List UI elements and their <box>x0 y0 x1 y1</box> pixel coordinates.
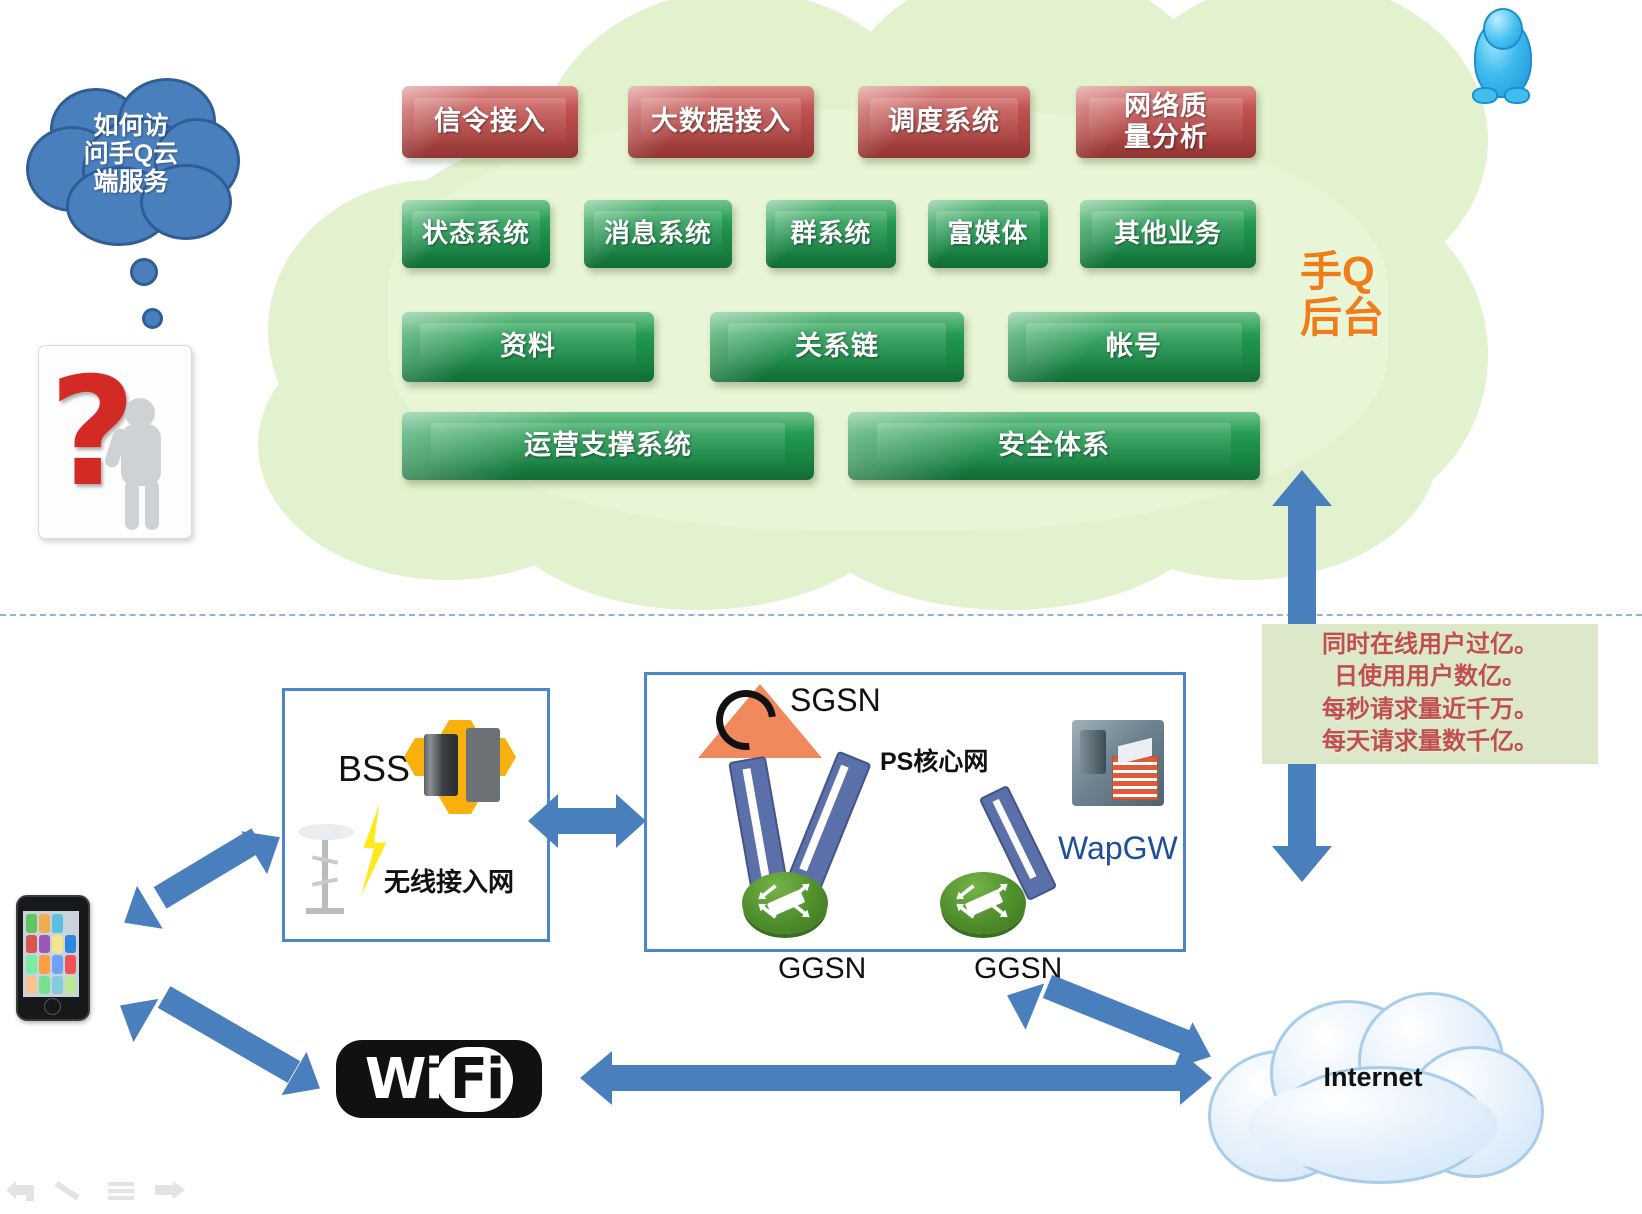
module-box-0-0[interactable]: 信令接入 <box>402 86 578 158</box>
smartphone-icon <box>16 895 90 1021</box>
module-box-label: 安全体系 <box>998 430 1110 461</box>
ran-ps-link-shaft <box>556 808 618 834</box>
undo-arrow-icon[interactable] <box>6 1177 32 1203</box>
module-box-3-1[interactable]: 安全体系 <box>848 412 1260 480</box>
thought-line-3: 端服务 <box>22 168 240 196</box>
stats-panel: 同时在线用户过亿。 日使用用户数亿。 每秒请求量近千万。 每天请求量数千亿。 <box>1262 624 1598 764</box>
pen-icon[interactable] <box>56 1177 82 1203</box>
module-box-3-0[interactable]: 运营支撑系统 <box>402 412 814 480</box>
module-box-label: 大数据接入 <box>651 106 791 137</box>
internet-cloud: Internet <box>1208 992 1538 1182</box>
lines-icon[interactable] <box>106 1177 132 1203</box>
module-box-label: 群系统 <box>790 219 871 249</box>
phone-ran-link <box>130 822 290 922</box>
thought-bubble: 如何访 问手Q云 端服务 <box>22 78 240 248</box>
phone-home-button <box>44 998 61 1015</box>
backend-watermark-line2: 后台 <box>1300 284 1384 345</box>
thought-line-2: 问手Q云 <box>22 140 240 168</box>
wifi-internet-arrow-left <box>580 1051 612 1105</box>
module-box-label: 资料 <box>500 331 556 362</box>
module-box-label: 调度系统 <box>888 106 1000 137</box>
stats-line-3: 每秒请求量近千万。 <box>1262 694 1598 726</box>
section-divider <box>0 614 1642 616</box>
module-box-2-2[interactable]: 帐号 <box>1008 312 1260 382</box>
sgsn-label: SGSN <box>790 682 881 719</box>
module-box-1-2[interactable]: 群系统 <box>766 200 896 268</box>
thought-dot-large <box>130 258 158 286</box>
thought-dot-small <box>142 308 163 329</box>
internet-label: Internet <box>1208 1062 1538 1093</box>
bss-equipment-icon <box>404 732 534 822</box>
module-box-0-2[interactable]: 调度系统 <box>858 86 1030 158</box>
module-box-0-1[interactable]: 大数据接入 <box>628 86 814 158</box>
ggsn-left-label: GGSN <box>778 952 866 986</box>
ggsn-internet-link <box>1000 970 1230 1070</box>
module-box-1-3[interactable]: 富媒体 <box>928 200 1048 268</box>
wifi-logo: Wi Fi <box>336 1040 542 1118</box>
module-box-0-3[interactable]: 网络质量分析 <box>1076 86 1256 158</box>
ggsn-left-icon <box>742 872 828 934</box>
module-box-1-0[interactable]: 状态系统 <box>402 200 550 268</box>
question-mark-card: ? <box>38 345 192 539</box>
ran-ps-arrow-right <box>616 794 646 848</box>
ran-label: 无线接入网 <box>384 862 514 899</box>
vertical-link-arrow-up <box>1272 470 1332 506</box>
module-box-label: 关系链 <box>795 331 879 362</box>
figure-leg-right <box>145 480 159 530</box>
ran-ps-arrow-left <box>528 794 558 848</box>
thought-line-1: 如何访 <box>22 112 240 140</box>
wifi-label-fi: Fi <box>436 1047 513 1112</box>
module-box-label: 状态系统 <box>422 219 530 249</box>
module-box-1-4[interactable]: 其他业务 <box>1080 200 1256 268</box>
wapgw-icon <box>1072 720 1164 806</box>
module-box-label: 其他业务 <box>1114 219 1222 249</box>
stats-line-4: 每天请求量数千亿。 <box>1262 726 1598 758</box>
bss-label: BSS <box>338 748 410 790</box>
ggsn-right-icon <box>940 872 1026 934</box>
module-box-label: 网络质量分析 <box>1124 91 1208 153</box>
module-box-label: 信令接入 <box>434 106 546 137</box>
module-box-label: 富媒体 <box>947 219 1028 249</box>
module-box-label: 运营支撑系统 <box>524 430 692 461</box>
qq-penguin-icon <box>1470 8 1532 104</box>
module-box-2-0[interactable]: 资料 <box>402 312 654 382</box>
thought-bubble-text: 如何访 问手Q云 端服务 <box>22 112 240 196</box>
module-box-label: 帐号 <box>1106 331 1162 362</box>
module-box-2-1[interactable]: 关系链 <box>710 312 964 382</box>
module-box-1-1[interactable]: 消息系统 <box>584 200 732 268</box>
vertical-link-arrow-down <box>1272 846 1332 882</box>
phone-screen <box>23 911 79 997</box>
figure-leg-left <box>125 480 139 530</box>
phone-wifi-link <box>120 980 340 1090</box>
cell-tower-icon <box>292 812 360 918</box>
module-box-label: 消息系统 <box>604 219 712 249</box>
stats-line-1: 同时在线用户过亿。 <box>1262 629 1598 661</box>
bottom-toolbar[interactable] <box>6 1172 181 1208</box>
ps-core-label: PS核心网 <box>880 742 988 778</box>
wifi-label-wi: Wi <box>365 1047 442 1112</box>
stats-line-2: 日使用用户数亿。 <box>1262 661 1598 693</box>
wapgw-label: WapGW <box>1058 830 1178 867</box>
forward-arrow-icon[interactable] <box>155 1177 181 1203</box>
